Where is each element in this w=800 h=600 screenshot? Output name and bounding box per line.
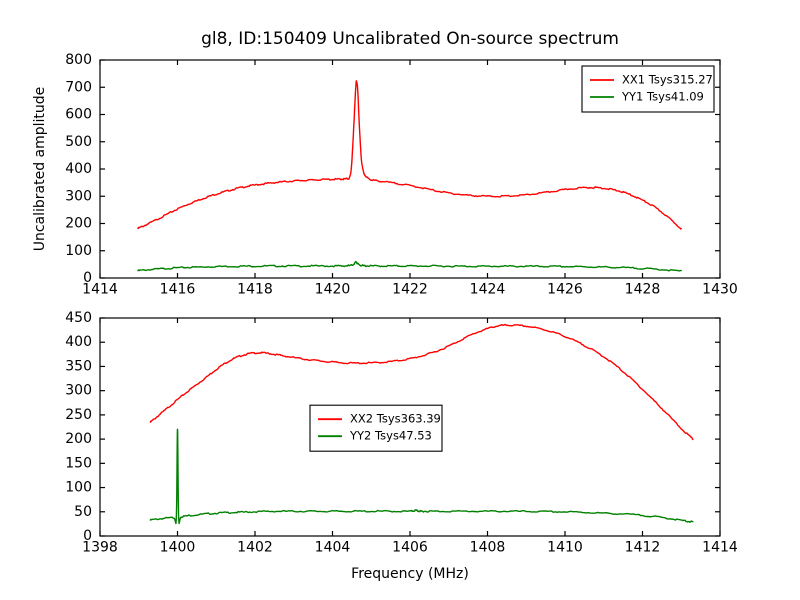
y-tick-label: 250: [65, 407, 92, 423]
x-tick-label: 1414: [702, 540, 738, 556]
x-tick-label: 1410: [547, 540, 583, 556]
series-line-yy: [138, 262, 681, 271]
legend-top: XX1 Tsys315.27YY1 Tsys41.09: [582, 66, 714, 112]
y-tick-label: 800: [65, 52, 92, 68]
y-tick-label: 100: [65, 480, 92, 496]
x-tick-label: 1428: [625, 282, 661, 298]
plot-canvas: gl8, ID:150409 Uncalibrated On-source sp…: [0, 0, 800, 600]
y-tick-label: 400: [65, 334, 92, 350]
y-tick-label: 150: [65, 455, 92, 471]
y-tick-label: 200: [65, 216, 92, 232]
y-tick-label: 50: [74, 504, 92, 520]
x-tick-label: 1412: [625, 540, 661, 556]
x-axis-label: Frequency (MHz): [351, 566, 469, 582]
spectrum-figure: gl8, ID:150409 Uncalibrated On-source sp…: [0, 0, 800, 600]
panel-bottom-spectrum: 1398140014021404140614081410141214140501…: [65, 310, 738, 582]
x-tick-label: 1420: [315, 282, 351, 298]
x-tick-label: 1426: [547, 282, 583, 298]
x-tick-label: 1422: [392, 282, 428, 298]
y-tick-label: 600: [65, 107, 92, 123]
panel-top-spectrum: 1414141614181420142214241426142814300100…: [32, 52, 738, 298]
x-tick-label: 1408: [470, 540, 506, 556]
y-tick-label: 450: [65, 310, 92, 326]
y-tick-label: 350: [65, 358, 92, 374]
x-tick-label: 1406: [392, 540, 428, 556]
legend-entry-label: YY1 Tsys41.09: [621, 90, 704, 104]
y-tick-label: 100: [65, 243, 92, 259]
page-title: gl8, ID:150409 Uncalibrated On-source sp…: [201, 29, 619, 49]
legend-entry-label: XX1 Tsys315.27: [622, 73, 713, 87]
y-tick-label: 0: [83, 528, 92, 544]
legend-entry-label: XX2 Tsys363.39: [350, 412, 441, 426]
x-tick-label: 1416: [160, 282, 196, 298]
y-axis-label: Uncalibrated amplitude: [32, 87, 48, 252]
y-tick-label: 300: [65, 188, 92, 204]
y-tick-label: 400: [65, 161, 92, 177]
x-tick-label: 1418: [237, 282, 273, 298]
y-tick-label: 700: [65, 79, 92, 95]
x-tick-label: 1400: [160, 540, 196, 556]
legend-bottom: XX2 Tsys363.39YY2 Tsys47.53: [310, 405, 442, 451]
x-tick-label: 1402: [237, 540, 273, 556]
legend-entry-label: YY2 Tsys47.53: [349, 429, 432, 443]
x-tick-label: 1430: [702, 282, 738, 298]
y-tick-label: 300: [65, 383, 92, 399]
y-tick-label: 0: [83, 270, 92, 286]
x-tick-label: 1424: [470, 282, 506, 298]
y-tick-label: 200: [65, 431, 92, 447]
x-tick-label: 1404: [315, 540, 351, 556]
y-tick-label: 500: [65, 134, 92, 150]
